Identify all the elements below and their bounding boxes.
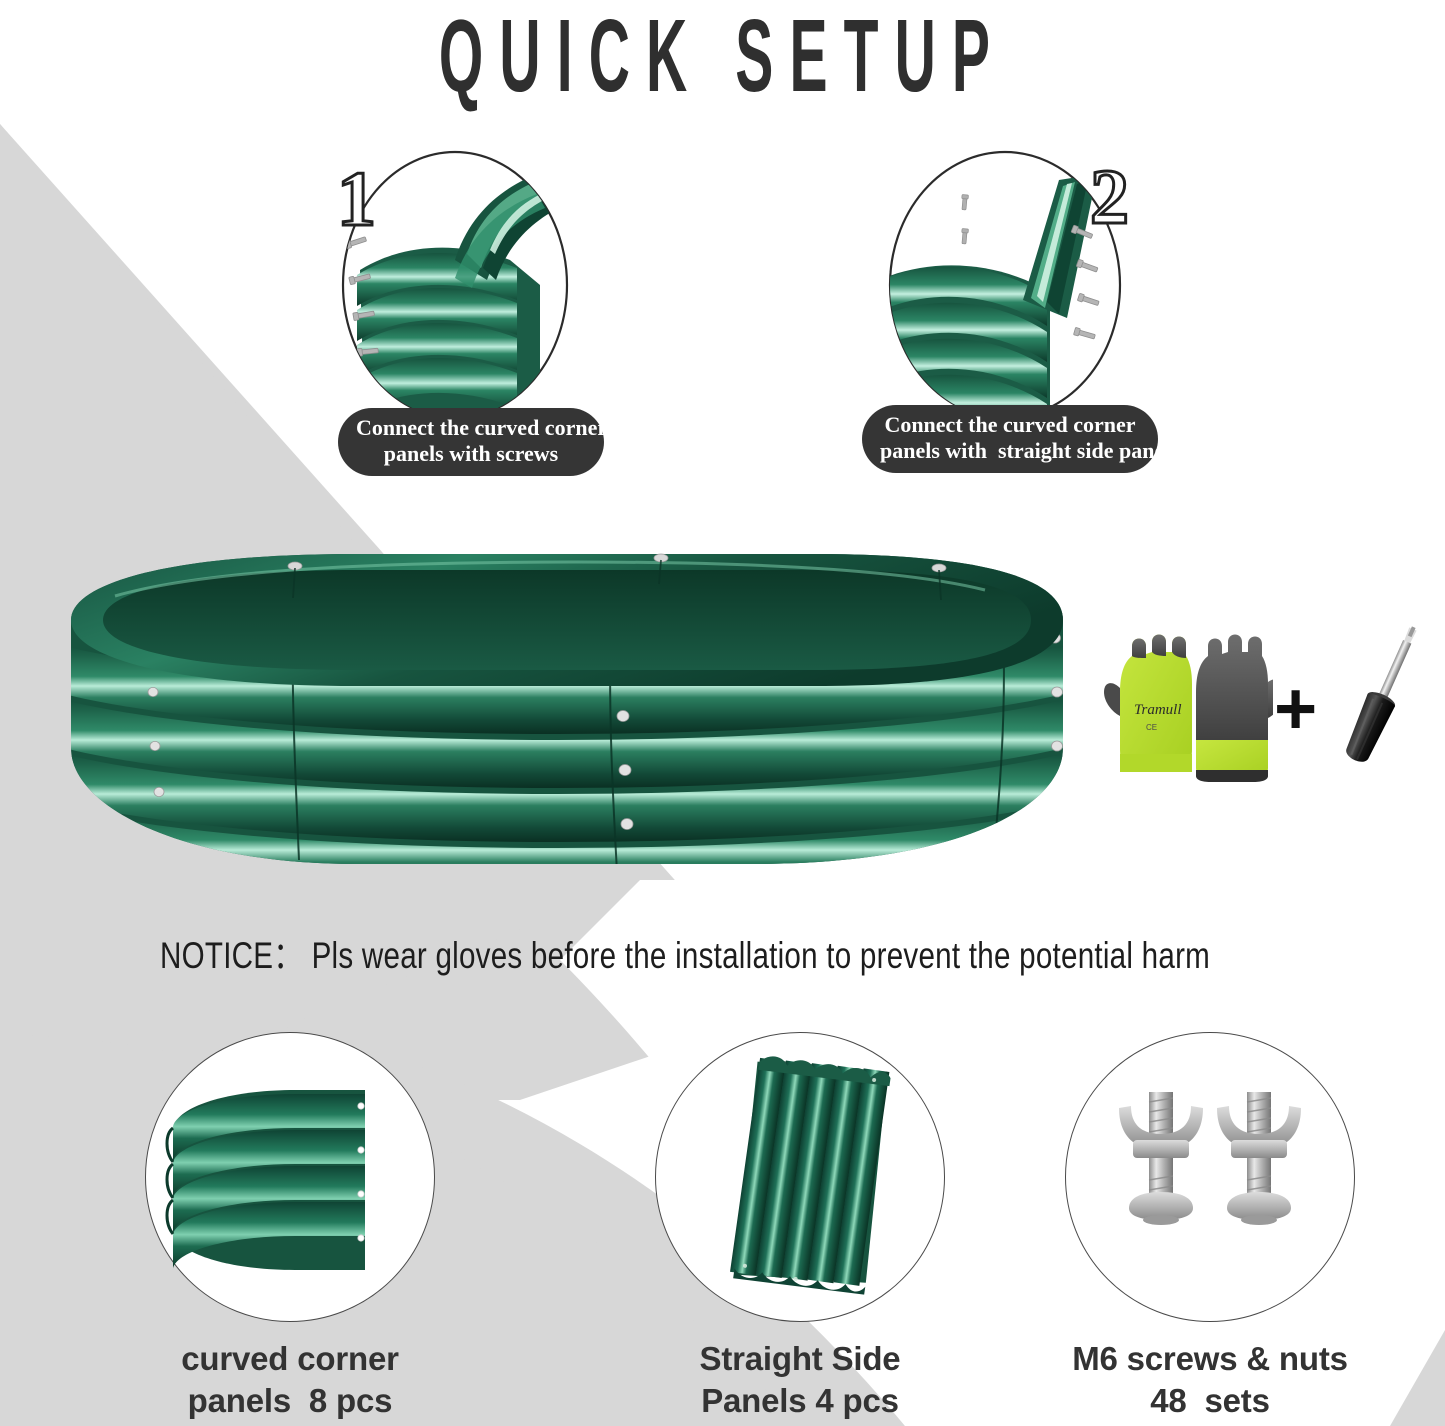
m6-screws-nuts-label: M6 screws & nuts 48 sets bbox=[1040, 1338, 1380, 1422]
page-title: QUICK SETUP bbox=[275, 0, 1171, 116]
raised-garden-bed-hero bbox=[55, 520, 1075, 920]
curved-corner-panel-illustration bbox=[165, 1070, 415, 1290]
curved-corner-panels-label-line1: curved corner bbox=[120, 1338, 460, 1380]
plus-icon: + bbox=[1274, 672, 1317, 746]
step-1-number: 1 bbox=[337, 160, 376, 238]
curved-corner-panels-label-line2: panels 8 pcs bbox=[120, 1380, 460, 1422]
step-1-caption: Connect the curved corner panels with sc… bbox=[338, 408, 604, 476]
infographic-root: QUICK SETUP bbox=[0, 0, 1445, 1426]
glove-brand-text: Tramull bbox=[1134, 702, 1182, 718]
straight-side-panels-label-line2: Panels 4 pcs bbox=[630, 1380, 970, 1422]
work-gloves: Tramull CE bbox=[1098, 622, 1273, 792]
straight-side-panels-label: Straight Side Panels 4 pcs bbox=[630, 1338, 970, 1422]
step-2-caption-line1: Connect the curved corner bbox=[880, 412, 1140, 438]
m6-screws-nuts-illustration bbox=[1105, 1090, 1320, 1290]
notice-text: NOTICE： Pls wear gloves before the insta… bbox=[160, 925, 1210, 979]
straight-side-panels-label-line1: Straight Side bbox=[630, 1338, 970, 1380]
step-2-number: 2 bbox=[1090, 158, 1129, 236]
straight-side-panel-illustration bbox=[700, 1052, 920, 1302]
svg-text:CE: CE bbox=[1146, 723, 1157, 732]
m6-screws-nuts-label-line1: M6 screws & nuts bbox=[1040, 1338, 1380, 1380]
phillips-screwdriver bbox=[1320, 618, 1440, 788]
step-2-caption: Connect the curved corner panels with st… bbox=[862, 405, 1158, 473]
step-2-caption-line2: panels with straight side panels bbox=[880, 438, 1140, 464]
curved-corner-panels-label: curved corner panels 8 pcs bbox=[120, 1338, 460, 1422]
step-1-caption-line2: panels with screws bbox=[356, 441, 586, 467]
m6-screws-nuts-label-line2: 48 sets bbox=[1040, 1380, 1380, 1422]
step-1-caption-line1: Connect the curved corner bbox=[356, 415, 586, 441]
